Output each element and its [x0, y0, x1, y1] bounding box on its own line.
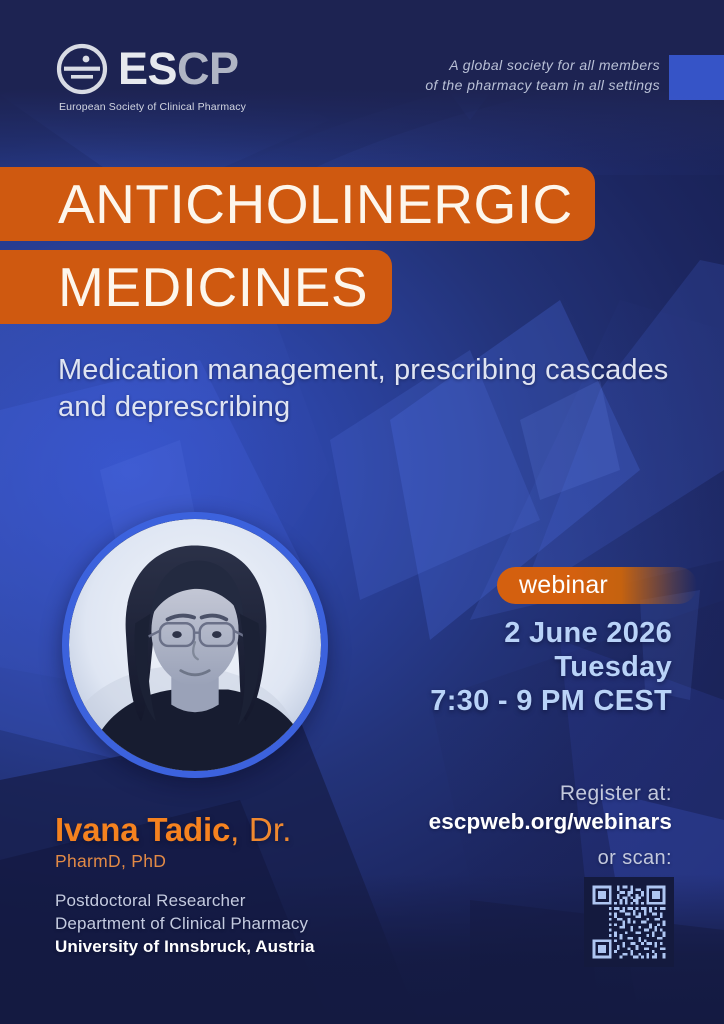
register-block: Register at: escpweb.org/webinars — [429, 782, 672, 835]
event-date: 2 June 2026 — [430, 616, 672, 650]
affiliation-line-3: University of Innsbruck, Austria — [55, 936, 475, 959]
tagline-line-1: A global society for all members — [425, 55, 660, 75]
webinar-badge: webinar — [497, 567, 697, 604]
speaker-block: Ivana Tadic, Dr. PharmD, PhD Postdoctora… — [55, 812, 475, 958]
qr-code-icon[interactable] — [584, 877, 674, 967]
logo-word-cp: CP — [177, 43, 239, 94]
title-banner-line-2: MEDICINES — [0, 250, 392, 324]
register-url[interactable]: escpweb.org/webinars — [429, 809, 672, 835]
header-corner-accent — [669, 55, 724, 100]
portrait-image — [69, 519, 321, 771]
speaker-portrait — [62, 512, 328, 778]
speaker-affiliation: Postdoctoral Researcher Department of Cl… — [55, 890, 475, 958]
event-time: 7:30 - 9 PM CEST — [430, 684, 672, 718]
register-label: Register at: — [429, 782, 672, 806]
poster-header: ESCP European Society of Clinical Pharma… — [0, 0, 724, 140]
escp-circle-logo-icon — [55, 42, 109, 96]
title-banner-line-1: ANTICHOLINERGIC — [0, 167, 595, 241]
event-datetime: 2 June 2026 Tuesday 7:30 - 9 PM CEST — [430, 616, 672, 719]
society-tagline: A global society for all members of the … — [425, 55, 660, 96]
title-block: ANTICHOLINERGIC MEDICINES Medication man… — [0, 167, 724, 426]
affiliation-line-2: Department of Clinical Pharmacy — [55, 913, 475, 936]
speaker-name: Ivana Tadic — [55, 811, 230, 848]
logo-subtitle: European Society of Clinical Pharmacy — [59, 101, 246, 113]
logo-word-es: ES — [118, 43, 177, 94]
webinar-poster: ESCP European Society of Clinical Pharma… — [0, 0, 724, 1024]
tagline-line-2: of the pharmacy team in all settings — [425, 75, 660, 95]
title-subtitle: Medication management, prescribing casca… — [0, 352, 724, 426]
speaker-degrees: PharmD, PhD — [55, 851, 475, 872]
speaker-name-line: Ivana Tadic, Dr. — [55, 812, 475, 848]
webinar-badge-label: webinar — [497, 571, 608, 600]
or-scan-label: or scan: — [598, 847, 672, 870]
escp-logo: ESCP European Society of Clinical Pharma… — [55, 42, 246, 113]
logo-row: ESCP — [55, 42, 239, 96]
speaker-title-suffix: , Dr. — [230, 811, 292, 848]
logo-wordmark: ESCP — [118, 48, 239, 91]
event-weekday: Tuesday — [430, 650, 672, 684]
affiliation-line-1: Postdoctoral Researcher — [55, 890, 475, 913]
